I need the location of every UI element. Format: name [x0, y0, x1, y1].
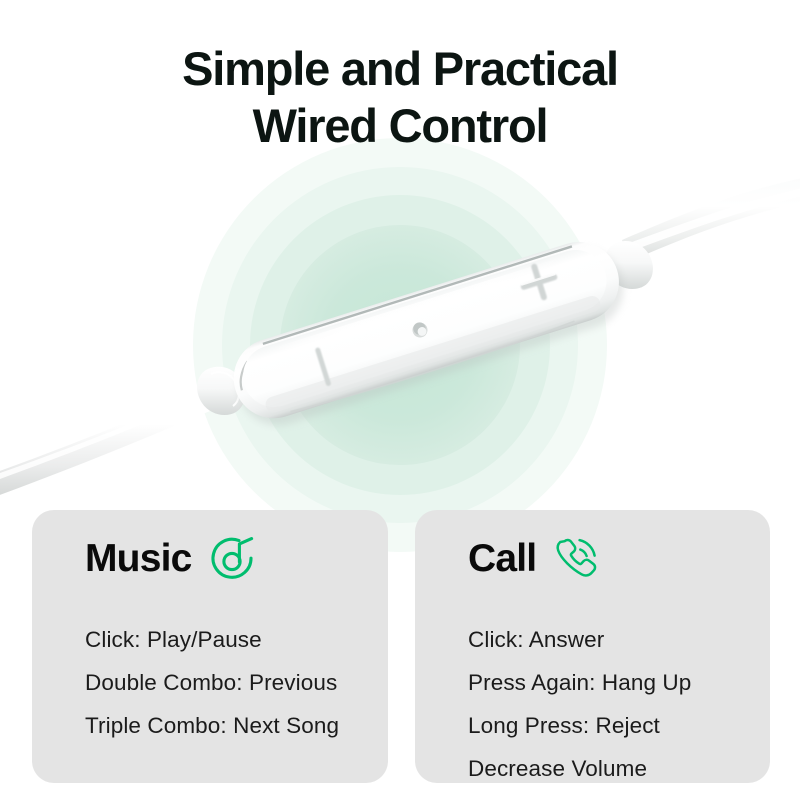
music-card-lines: Click: Play/Pause Double Combo: Previous…	[85, 618, 375, 747]
list-item: Double Combo: Previous	[85, 661, 375, 704]
instruction-cards: Music Click: Play/Pause Double Combo: Pr…	[0, 510, 800, 785]
product-feature-graphic: Simple and Practical Wired Control	[0, 0, 800, 800]
page-title: Simple and Practical Wired Control	[0, 40, 800, 154]
call-card: Call Click: Answer Press Again: Hang Up …	[415, 510, 770, 783]
phone-ringing-icon	[552, 535, 600, 583]
music-card-title: Music	[85, 535, 192, 583]
list-item: Long Press: Reject	[468, 704, 758, 747]
call-card-title: Call	[468, 535, 536, 583]
list-item: Click: Play/Pause	[85, 618, 375, 661]
cable-right	[622, 176, 800, 262]
list-item: Press Again: Hang Up	[468, 661, 758, 704]
title-line-1: Simple and Practical	[0, 40, 800, 97]
inline-remote-body	[224, 231, 634, 436]
title-line-2: Wired Control	[0, 97, 800, 154]
music-card-header: Music	[85, 534, 256, 584]
call-card-lines: Click: Answer Press Again: Hang Up Long …	[468, 618, 758, 790]
list-item: Click: Answer	[468, 618, 758, 661]
music-note-disc-icon	[208, 535, 256, 583]
call-card-header: Call	[468, 534, 600, 584]
music-card: Music Click: Play/Pause Double Combo: Pr…	[32, 510, 388, 783]
list-item: Decrease Volume	[468, 747, 758, 790]
list-item: Triple Combo: Next Song	[85, 704, 375, 747]
